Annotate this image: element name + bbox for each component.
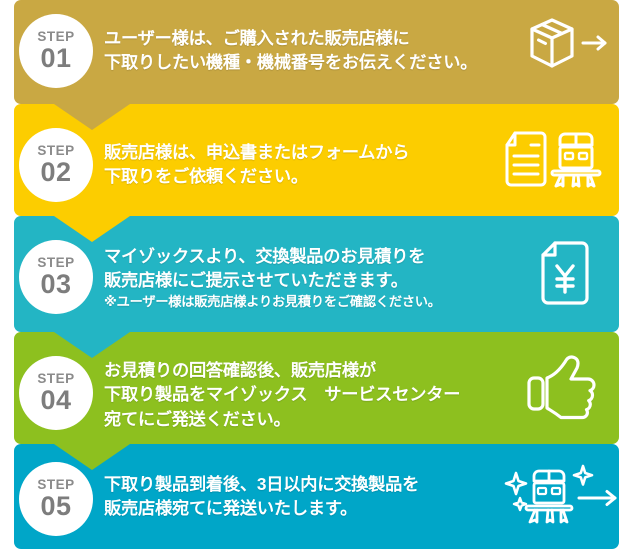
- step-badge-05: STEP 05: [19, 462, 93, 536]
- step-text-line-05-2: 販売店様宛てに発送いたします。: [104, 496, 493, 520]
- step-badge-word-02: STEP: [37, 144, 74, 158]
- step-text-line-01-2: 下取りしたい機種・機械番号をお伝えください。: [104, 50, 493, 74]
- step-badge-03: STEP 03: [19, 240, 93, 314]
- step-text-line-04-2: 下取り製品をマイゾックス サービスセンター: [104, 382, 517, 406]
- step-icon-wrap-01: [499, 16, 611, 83]
- step-badge-word-01: STEP: [37, 30, 74, 44]
- step-badge-word-05: STEP: [37, 478, 74, 492]
- step-icon-wrap-04: [525, 354, 603, 427]
- step-flow-diagram: STEP 01 ユーザー様は、ご購入された販売店様に 下取りしたい機種・機械番号…: [0, 0, 633, 549]
- step-text-line-04-3: 宛てにご発送ください。: [104, 407, 517, 431]
- step-badge-number-05: 05: [40, 493, 71, 520]
- thumbs-up-icon: [525, 354, 603, 427]
- step-badge-01: STEP 01: [19, 14, 93, 88]
- step-chevron-01: [54, 104, 130, 130]
- step-text-line-04-1: お見積りの回答確認後、販売店様が: [104, 358, 517, 382]
- step-chevron-03: [54, 332, 130, 358]
- step-icon-wrap-05: [503, 462, 623, 537]
- step-text-line-03-1: マイゾックスより、交換製品のお見積りを: [104, 244, 493, 268]
- step-badge-number-03: 03: [40, 271, 71, 298]
- step-text-05: 下取り製品到着後、3日以内に交換製品を 販売店様宛てに発送いたします。: [104, 472, 493, 521]
- step-text-04: お見積りの回答確認後、販売店様が 下取り製品をマイゾックス サービスセンター 宛…: [104, 358, 517, 431]
- step-text-line-05-1: 下取り製品到着後、3日以内に交換製品を: [104, 472, 493, 496]
- step-icon-wrap-02: [503, 128, 611, 195]
- step-badge-word-03: STEP: [37, 256, 74, 270]
- step-icon-wrap-03: [535, 240, 595, 313]
- step-badge-number-02: 02: [40, 159, 71, 186]
- step-text-01: ユーザー様は、ご購入された販売店様に 下取りしたい機種・機械番号をお伝えください…: [104, 26, 493, 75]
- step-text-02: 販売店様は、申込書またはフォームから 下取りをご依頼ください。: [104, 140, 493, 189]
- step-text-line-02-1: 販売店様は、申込書またはフォームから: [104, 140, 493, 164]
- step-text-note-03: ※ユーザー様は販売店様よりお見積りをご確認ください。: [104, 293, 493, 311]
- step-badge-02: STEP 02: [19, 128, 93, 202]
- step-text-03: マイゾックスより、交換製品のお見積りを 販売店様にご提示させていただきます。 ※…: [104, 244, 493, 311]
- step-text-line-02-2: 下取りをご依頼ください。: [104, 164, 493, 188]
- yen-quotation-document-icon: [535, 240, 595, 313]
- document-and-surveying-instrument-icon: [503, 128, 611, 195]
- step-badge-number-04: 04: [40, 387, 71, 414]
- step-band-01: STEP 01 ユーザー様は、ご購入された販売店様に 下取りしたい機種・機械番号…: [0, 0, 633, 104]
- box-arrow-icon: [499, 16, 611, 83]
- step-text-line-03-2: 販売店様にご提示させていただきます。: [104, 268, 493, 292]
- step-badge-word-04: STEP: [37, 372, 74, 386]
- step-chevron-02: [54, 216, 130, 242]
- step-text-line-01-1: ユーザー様は、ご購入された販売店様に: [104, 26, 493, 50]
- sparkling-surveying-instrument-arrow-icon: [503, 462, 623, 537]
- step-badge-04: STEP 04: [19, 356, 93, 430]
- step-badge-number-01: 01: [40, 45, 71, 72]
